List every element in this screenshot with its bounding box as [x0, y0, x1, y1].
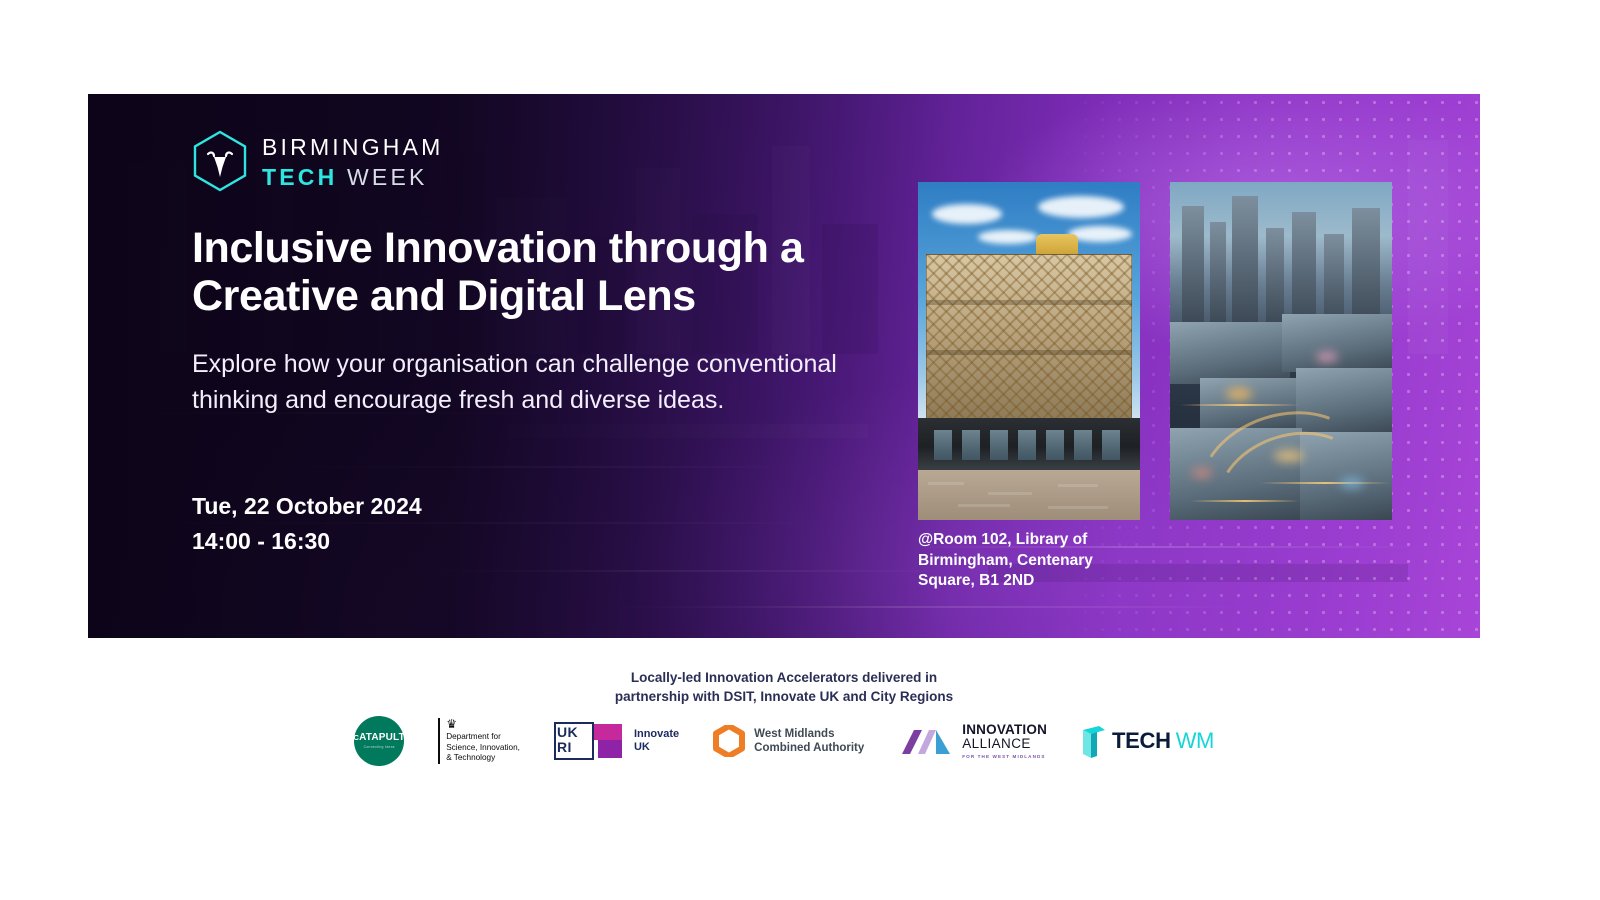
hexagon-bull-icon: [192, 130, 248, 192]
dsit-line2: Science, Innovation,: [446, 743, 520, 754]
wmca-line2: Combined Authority: [754, 741, 864, 755]
innovation-alliance-tagline: FOR THE WEST MIDLANDS: [962, 754, 1047, 759]
event-venue: @Room 102, Library of Birmingham, Centen…: [918, 530, 1148, 592]
funding-note-line2: partnership with DSIT, Innovate UK and C…: [88, 687, 1480, 706]
wmca-line1: West Midlands: [754, 727, 864, 741]
techwm-word-wm: WM: [1176, 728, 1214, 754]
event-headline: Inclusive Innovation through a Creative …: [192, 224, 892, 320]
catapult-circle-icon: CATAPULT Connecting Ideas: [354, 716, 404, 766]
library-of-birmingham-photo: [918, 182, 1140, 520]
innovate-uk-line2: UK: [634, 741, 679, 754]
partner-footer: Locally-led Innovation Accelerators deli…: [88, 638, 1480, 790]
logo-line-tech-week: TECH WEEK: [262, 166, 444, 189]
ukri-letters-bottom: RI: [557, 740, 591, 755]
partner-logo-innovation-alliance: INNOVATION ALLIANCE FOR THE WEST MIDLAND…: [898, 712, 1047, 770]
dsit-line3: & Technology: [446, 753, 520, 764]
partner-logo-techwm: TECH WM: [1081, 712, 1214, 770]
wmca-label: West Midlands Combined Authority: [754, 727, 864, 756]
event-time: 14:00 - 16:30: [192, 524, 422, 559]
birmingham-aerial-photo: [1170, 182, 1392, 520]
crown-crest-icon: ♛: [446, 718, 520, 730]
event-datetime: Tue, 22 October 2024 14:00 - 16:30: [192, 489, 422, 559]
innovation-alliance-line1: INNOVATION: [962, 723, 1047, 738]
birmingham-tech-week-logo: BIRMINGHAM TECH WEEK: [192, 130, 444, 192]
tech-wm-pillar-icon: [1081, 724, 1107, 758]
event-subheadline: Explore how your organisation can challe…: [192, 346, 852, 419]
innovation-alliance-label: INNOVATION ALLIANCE FOR THE WEST MIDLAND…: [962, 723, 1047, 760]
ukri-mark-icon: UK RI: [554, 722, 626, 760]
event-date: Tue, 22 October 2024: [192, 489, 422, 524]
logo-word-tech: TECH: [262, 164, 337, 190]
orange-hexagon-ring-icon: [713, 725, 745, 757]
partner-logo-dsit: ♛ Department for Science, Innovation, & …: [438, 712, 520, 770]
centenary-square-plaza: [918, 470, 1140, 520]
event-banner-page: BIRMINGHAM TECH WEEK Inclusive Innovatio…: [0, 0, 1600, 900]
logo-word-week-text: WEEK: [347, 164, 428, 190]
partner-logo-row: CATAPULT Connecting Ideas ♛ Department f…: [88, 710, 1480, 772]
catapult-tagline: Connecting Ideas: [364, 745, 395, 749]
event-banner: BIRMINGHAM TECH WEEK Inclusive Innovatio…: [88, 94, 1480, 638]
logo-wordmark: BIRMINGHAM TECH WEEK: [262, 134, 444, 189]
innovate-uk-label: Innovate UK: [634, 728, 679, 754]
funding-note-line1: Locally-led Innovation Accelerators deli…: [88, 668, 1480, 687]
logo-line-birmingham: BIRMINGHAM: [262, 136, 444, 159]
logo-word-week: [337, 164, 347, 190]
catapult-wordmark: CATAPULT: [353, 733, 404, 743]
innovation-alliance-line2: ALLIANCE: [962, 737, 1047, 752]
innovate-uk-line1: Innovate: [634, 728, 679, 741]
library-filigree-facade: [926, 254, 1132, 422]
ukri-letters-top: UK: [557, 725, 591, 740]
partner-logo-catapult: CATAPULT Connecting Ideas: [354, 712, 404, 770]
dsit-line1: Department for: [446, 732, 520, 743]
partner-logo-wmca: West Midlands Combined Authority: [713, 712, 864, 770]
three-chevron-icon: [898, 728, 954, 754]
techwm-word-tech: TECH: [1112, 728, 1171, 754]
partner-logo-innovate-uk: UK RI Innovate UK: [554, 712, 679, 770]
dsit-name: Department for Science, Innovation, & Te…: [446, 732, 520, 764]
dsit-rule: [438, 718, 440, 764]
funding-note: Locally-led Innovation Accelerators deli…: [88, 668, 1480, 706]
